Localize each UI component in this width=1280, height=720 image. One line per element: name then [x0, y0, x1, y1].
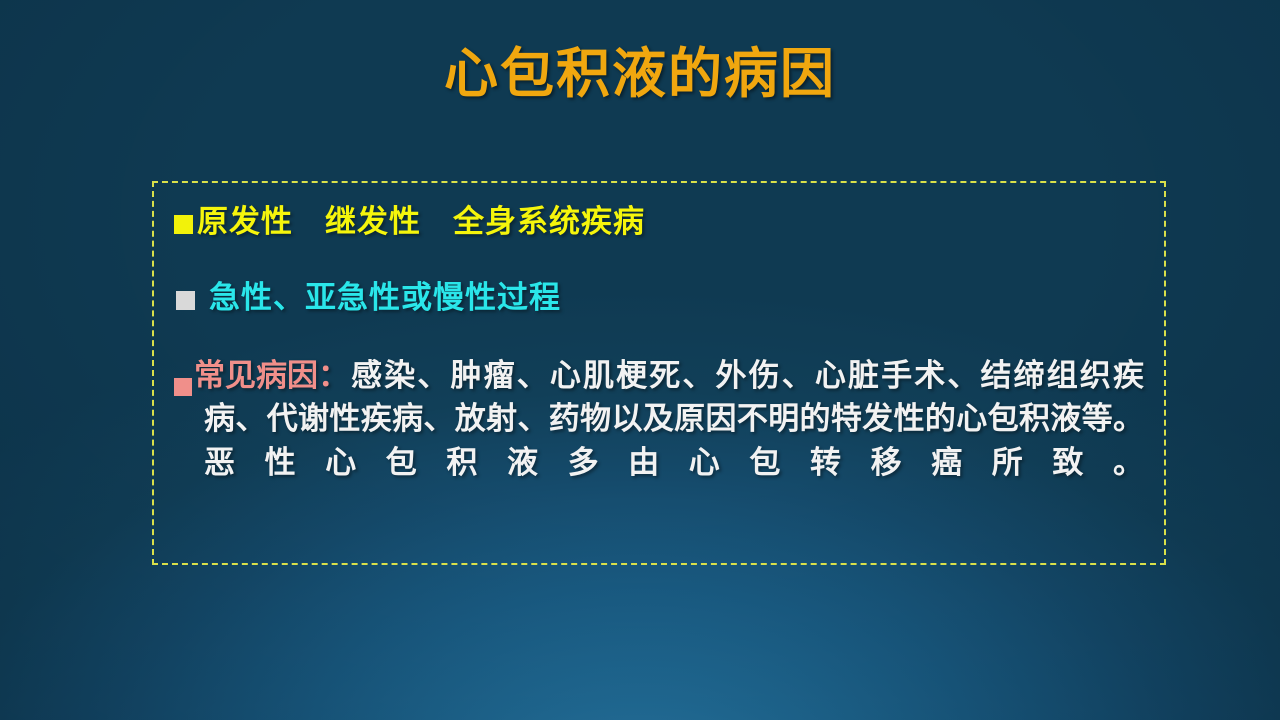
square-bullet-salmon-icon — [174, 378, 192, 396]
page-title: 心包积液的病因 — [0, 46, 1280, 103]
common-causes-paragraph: 常见病因：感染、肿瘤、心肌梗死、外伤、心脏手术、结缔组织疾病、代谢性疾病、放射、… — [174, 355, 1144, 529]
bullet-label-disease-course: 急性、亚急性或慢性过程 — [209, 280, 561, 318]
bullet-item-etiology-types: 原发性 继发性 全身系统疾病 — [174, 204, 645, 242]
bullet-item-disease-course: 急性、亚急性或慢性过程 — [176, 280, 561, 318]
common-causes-lead: 常见病因： — [174, 355, 349, 398]
bullet-item-common-causes: 常见病因：感染、肿瘤、心肌梗死、外伤、心脏手术、结缔组织疾病、代谢性疾病、放射、… — [174, 355, 1144, 529]
slide-canvas: 心包积液的病因 原发性 继发性 全身系统疾病 急性、亚急性或慢性过程 常见病因：… — [0, 0, 1280, 720]
content-box: 原发性 继发性 全身系统疾病 急性、亚急性或慢性过程 常见病因：感染、肿瘤、心肌… — [152, 181, 1166, 565]
square-bullet-gray-icon — [176, 291, 195, 310]
common-causes-label: 常见病因： — [194, 358, 349, 394]
bullet-label-etiology-types: 原发性 继发性 全身系统疾病 — [197, 204, 645, 242]
square-bullet-yellow-icon — [174, 215, 193, 234]
